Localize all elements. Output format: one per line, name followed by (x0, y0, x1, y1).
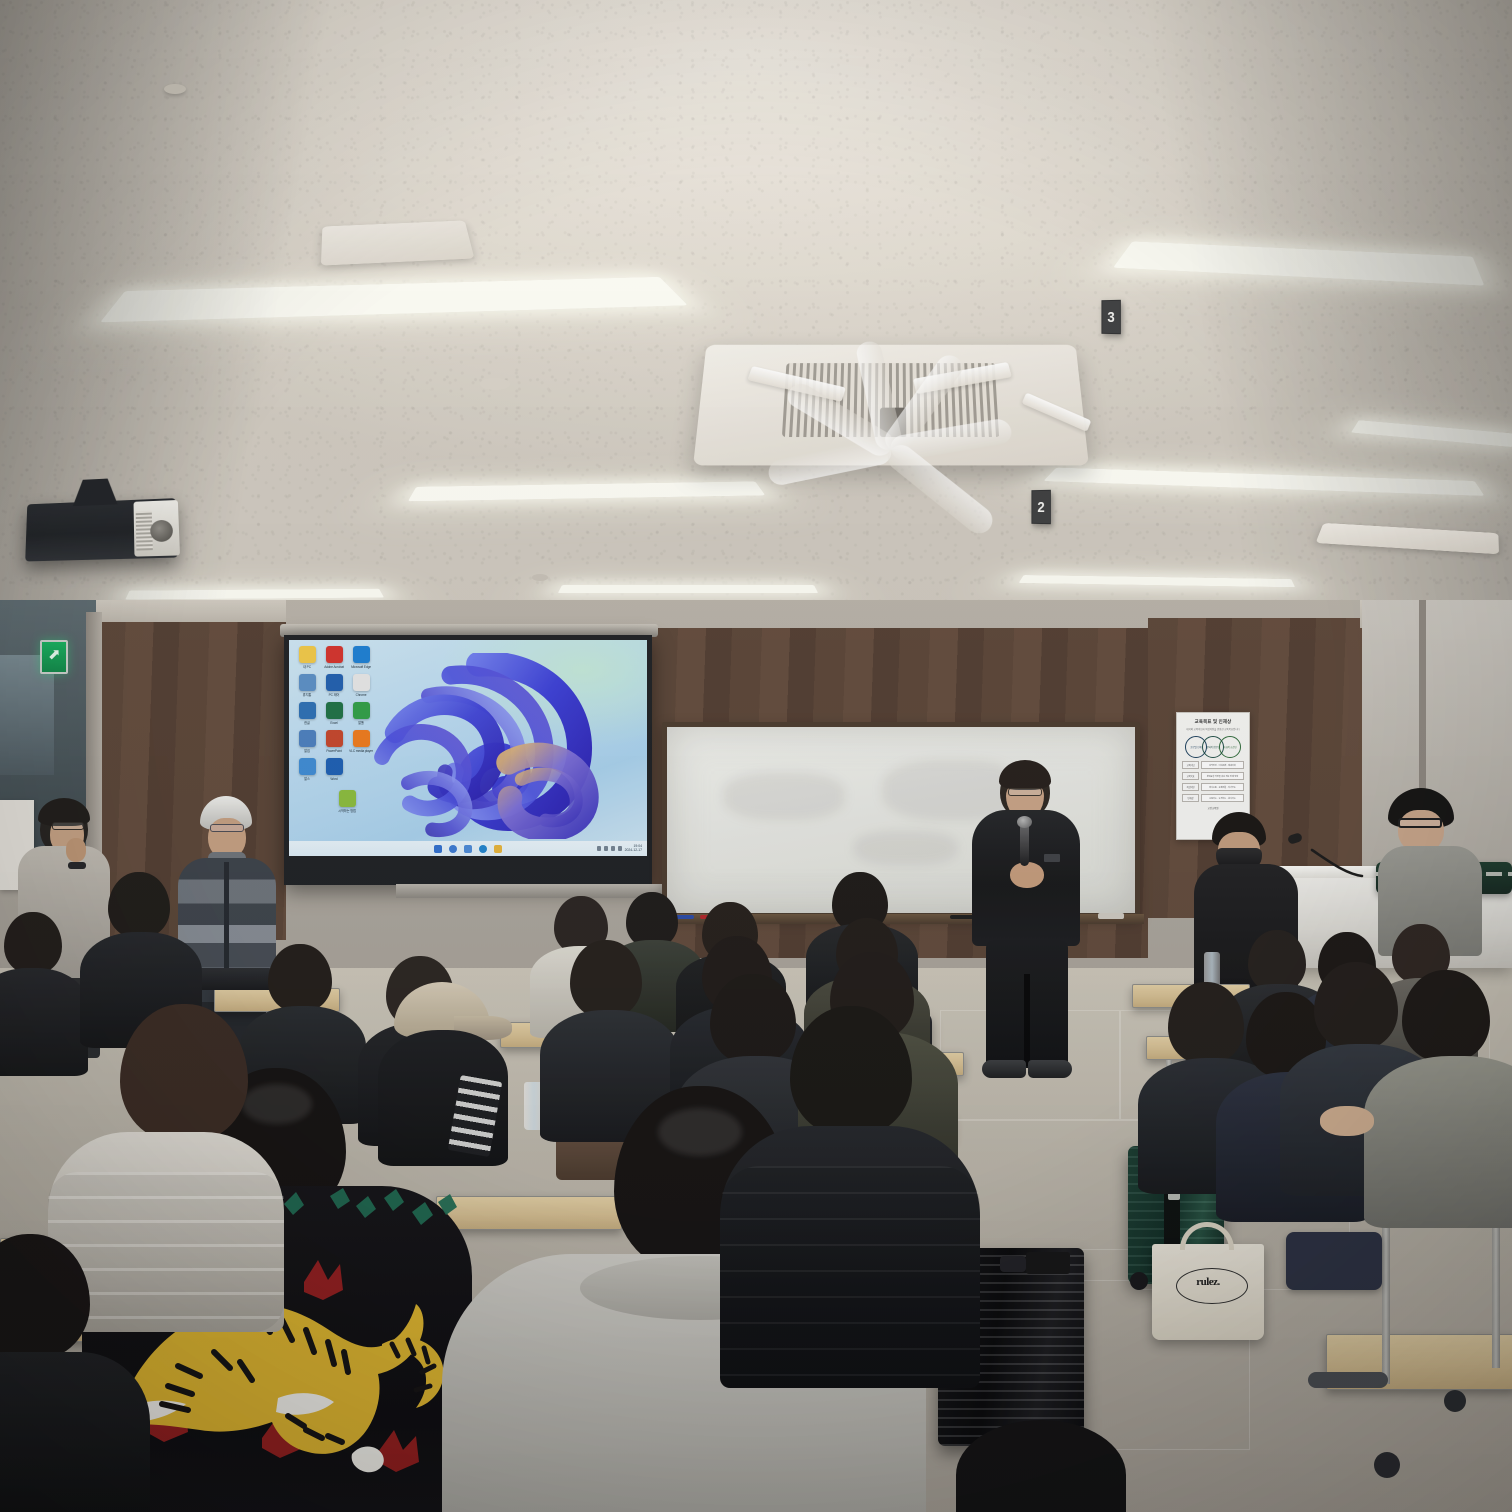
desktop-icon[interactable]: Excel (321, 702, 347, 725)
desktop-icon-glyph (326, 702, 343, 719)
desktop-icon[interactable]: 시작하는 방법 (334, 790, 360, 813)
suitcase-wheel (1130, 1272, 1148, 1290)
desktop-icon[interactable]: 알스 (294, 758, 320, 781)
desktop-icon-glyph (353, 730, 370, 747)
presenter-shoe-right (1028, 1060, 1072, 1078)
ceiling-vent-small (480, 378, 510, 390)
wrist-watch (68, 862, 86, 869)
tray-volume-icon[interactable] (611, 846, 615, 851)
laptop-on-desk (196, 968, 272, 990)
microphone-capsule (1017, 816, 1032, 828)
hand-on-chin (66, 838, 86, 862)
head (268, 944, 332, 1012)
poster-row: 교육목표 창의융합 역량을 갖춘 전문 인재 양성 (1182, 772, 1244, 780)
chair-caster (1444, 1390, 1466, 1412)
desktop-icon-label: Chrome (348, 693, 374, 697)
ac-vane-3 (1021, 392, 1090, 431)
poster-footer: 교양교육원 (1182, 806, 1244, 810)
desktop-icon-label: Microsoft Edge (348, 665, 374, 669)
poster-row-value: 창의융합 역량을 갖춘 전문 인재 양성 (1201, 772, 1244, 780)
poster-row: 인재상 소통하는 · 도전하는 · 봉사하는 (1182, 794, 1244, 802)
head (710, 974, 796, 1064)
puffer-quilting (720, 1166, 980, 1388)
desktop-icon-label: 한글 (294, 721, 320, 725)
desktop-icon-label: VLC media player (348, 749, 374, 753)
desktop-icon-label: 알스 (294, 777, 320, 781)
presenter-glasses (1008, 788, 1042, 796)
poster-title: 교육목표 및 인재상 (1182, 719, 1244, 725)
poster-row-key: 교육이념 (1182, 761, 1199, 769)
whiteboard-erased-mark-3 (854, 831, 957, 864)
taskbar-clock[interactable]: 19:04 2024-12-17 (625, 844, 642, 853)
desktop-icon-label: Word (321, 777, 347, 781)
chair-back (1286, 1232, 1382, 1290)
head (120, 1004, 248, 1142)
clock-date: 2024-12-17 (625, 848, 642, 852)
eraser[interactable] (1098, 913, 1124, 919)
exit-running-man-icon: ⬈ (48, 647, 60, 667)
glasses-icon (52, 822, 84, 830)
poster-circle-diagram: 글로벌 인재 창의적 전문인 사회적 교감인 (1182, 736, 1244, 758)
head (4, 912, 62, 974)
poster-row-value: 소통하는 · 도전하는 · 봉사하는 (1201, 794, 1244, 802)
desktop-icon[interactable]: PowerPoint (321, 730, 347, 753)
head (1402, 970, 1490, 1062)
desktop-icon-glyph (326, 758, 343, 775)
desktop-icon-glyph (353, 702, 370, 719)
glasses-icon (1398, 818, 1442, 828)
presenter-logo-patch (1044, 854, 1060, 862)
hair-highlight (658, 1108, 742, 1156)
torso (1364, 1056, 1512, 1228)
ceiling-projector (25, 498, 178, 561)
desktop-icon-glyph (353, 646, 370, 663)
desktop-icon-label: 알톨 (348, 721, 374, 725)
smoke-detector (164, 84, 186, 94)
edge-icon[interactable] (479, 845, 487, 853)
desktop-icon-glyph (339, 790, 356, 807)
head (1314, 962, 1398, 1050)
sprinkler-head (532, 574, 548, 581)
desktop-icon[interactable]: Microsoft Edge (348, 646, 374, 669)
ceiling-diffuser-1 (321, 220, 474, 265)
ceiling-zone-sign-2: 2 (1031, 490, 1050, 524)
desktop-icon-glyph (326, 730, 343, 747)
lecture-hall-photo: 3 2 ⬈ (0, 0, 1512, 1512)
desktop-icon-glyph (299, 674, 316, 691)
tray-chevron-icon[interactable] (597, 846, 601, 851)
chair-caster (1374, 1452, 1400, 1478)
desktop-icon-glyph (353, 674, 370, 691)
desktop-icon-label: Excel (321, 721, 347, 725)
desktop-icon[interactable]: VLC media player (348, 730, 374, 753)
desktop-icon-label: 알집 (294, 749, 320, 753)
presenter-leg-gap (1024, 974, 1030, 1066)
desktop-icon[interactable]: PC 제어 (321, 674, 347, 697)
desktop-icon-label: 휴지통 (294, 693, 320, 697)
file-explorer-icon[interactable] (494, 845, 502, 853)
widgets-icon[interactable] (464, 845, 472, 853)
hair-highlight (242, 1084, 312, 1124)
suitcase-grab-handle (1000, 1256, 1026, 1272)
desktop-icon[interactable]: Word (321, 758, 347, 781)
system-tray[interactable]: 19:04 2024-12-17 (597, 844, 642, 853)
gooseneck-microphone (1296, 838, 1364, 878)
desktop-icon-glyph (326, 646, 343, 663)
exit-sign: ⬈ (40, 640, 68, 674)
chair-base (1308, 1372, 1388, 1388)
tray-ime-icon[interactable] (618, 846, 622, 851)
desktop-icon[interactable]: 한글 (294, 702, 320, 725)
desktop-icon-label: 내 PC (294, 665, 320, 669)
ceiling-air-conditioner (693, 345, 1089, 466)
tray-network-icon[interactable] (604, 846, 608, 851)
presenter-shoe-left (982, 1060, 1026, 1078)
poster-row-value: 홍익인간 · 이화세계 · 재세이화 (1201, 761, 1244, 769)
poster-row: 교육이념 홍익인간 · 이화세계 · 재세이화 (1182, 761, 1244, 769)
desktop-icon-label: 시작하는 방법 (334, 809, 360, 813)
head (1168, 982, 1244, 1064)
poster-row-key: 핵심역량 (1182, 783, 1199, 791)
poster-row-value: 의사소통 · 문제해결 · 자기주도 (1201, 783, 1244, 791)
desktop-icon-label: Adobe Acrobat (321, 665, 347, 669)
glasses-icon (210, 824, 244, 832)
projector-front (134, 500, 180, 557)
wall-panel-upper-left (96, 600, 286, 622)
tote-brand-text: rulez. (1152, 1276, 1264, 1288)
ceiling-light-panel-6 (558, 585, 818, 593)
desktop-icon[interactable]: Chrome (348, 674, 374, 697)
whiteboard-erased-mark-1 (723, 772, 845, 820)
windows-taskbar[interactable]: 19:04 2024-12-17 (289, 841, 647, 856)
desktop-icon-glyph (299, 702, 316, 719)
presenter-hands (1010, 862, 1044, 888)
desktop-icon[interactable]: 내 PC (294, 646, 320, 669)
head (108, 872, 170, 938)
poster-subtitle: 대학의 교육이념과 핵심역량을 반영한 교육목표입니다 (1182, 728, 1244, 731)
projector-lens (150, 520, 173, 542)
canvas-tote-bag: rulez. (1152, 1244, 1264, 1340)
torso (0, 1352, 150, 1512)
poster-row: 핵심역량 의사소통 · 문제해결 · 자기주도 (1182, 783, 1244, 791)
poster-row-key: 인재상 (1182, 794, 1199, 802)
ceiling-zone-sign-3: 3 (1101, 300, 1120, 334)
desktop-icon-label: PC 제어 (321, 693, 347, 697)
hands-clasped (1320, 1106, 1374, 1136)
head (790, 1006, 912, 1136)
desktop-icon-glyph (299, 758, 316, 775)
desktop-icon[interactable]: 알톨 (348, 702, 374, 725)
projected-desktop[interactable]: 내 PC 휴지통 한글 알집 알스 Adobe Acrobat (289, 640, 647, 856)
poster-circle-3: 사회적 교감인 (1219, 736, 1241, 758)
torso (0, 968, 88, 1076)
suitcase-telescopic-handle (1026, 1252, 1070, 1274)
desktop-icon-label: PowerPoint (321, 749, 347, 753)
black-marker[interactable] (950, 915, 974, 919)
desktop-icon[interactable]: 휴지통 (294, 674, 320, 697)
desktop-icon[interactable]: Adobe Acrobat (321, 646, 347, 669)
poster-row-key: 교육목표 (1182, 772, 1199, 780)
head (1248, 930, 1306, 992)
desktop-icon-glyph (326, 674, 343, 691)
head (570, 940, 642, 1018)
wallpaper-bloom-graphic (339, 653, 618, 839)
desktop-icon[interactable]: 알집 (294, 730, 320, 753)
start-button[interactable] (434, 845, 442, 853)
projection-screen-bottom-bar (396, 884, 664, 898)
desktop-icon-glyph (299, 646, 316, 663)
projection-screen[interactable]: 내 PC 휴지통 한글 알집 알스 Adobe Acrobat (284, 635, 652, 885)
desktop-icon-glyph (299, 730, 316, 747)
search-icon[interactable] (449, 845, 457, 853)
